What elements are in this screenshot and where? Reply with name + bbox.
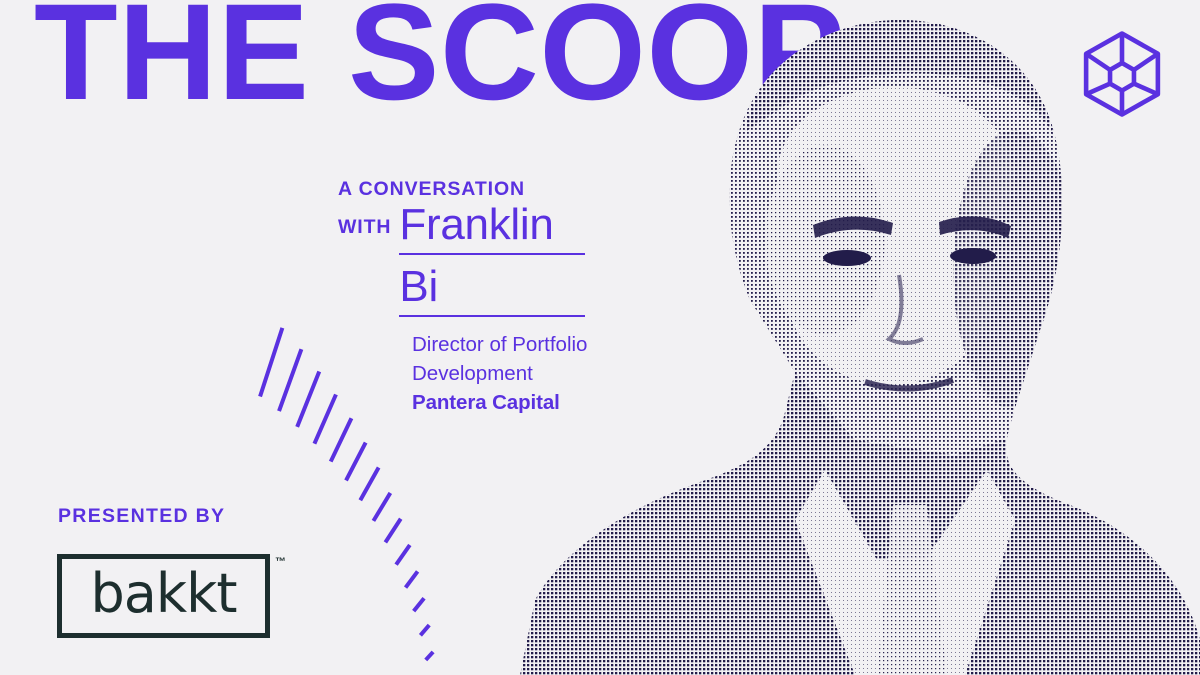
trademark-symbol: ™ — [275, 556, 286, 568]
podcast-episode-card: THE SCOOP A CONVERSATION WITH Franklin B… — [0, 0, 1200, 675]
page-title: THE SCOOP — [34, 0, 845, 121]
sponsor-logo: bakkt ™ — [57, 554, 289, 646]
speaker-role-line2: Development — [412, 359, 606, 388]
speaker-first-name: Franklin — [399, 202, 606, 248]
conversation-kicker-line1: A CONVERSATION — [338, 178, 606, 201]
presented-by-label: PRESENTED BY — [58, 505, 225, 528]
speaker-role-block: Director of Portfolio Development Panter… — [412, 330, 606, 417]
name-rule-bottom — [399, 315, 585, 317]
speaker-role-line1: Director of Portfolio — [412, 330, 606, 359]
sponsor-wordmark: bakkt — [57, 554, 270, 638]
speaker-company: Pantera Capital — [412, 388, 606, 417]
speaker-info-block: A CONVERSATION WITH Franklin Bi Director… — [338, 178, 606, 417]
hex-cube-icon[interactable] — [1076, 28, 1168, 120]
speaker-last-name: Bi — [399, 264, 606, 310]
name-rule-top — [399, 253, 585, 255]
speaker-names: Franklin Bi — [399, 202, 606, 326]
conversation-kicker-line2: WITH — [338, 202, 391, 238]
speaker-name-row: WITH Franklin Bi — [338, 202, 606, 326]
